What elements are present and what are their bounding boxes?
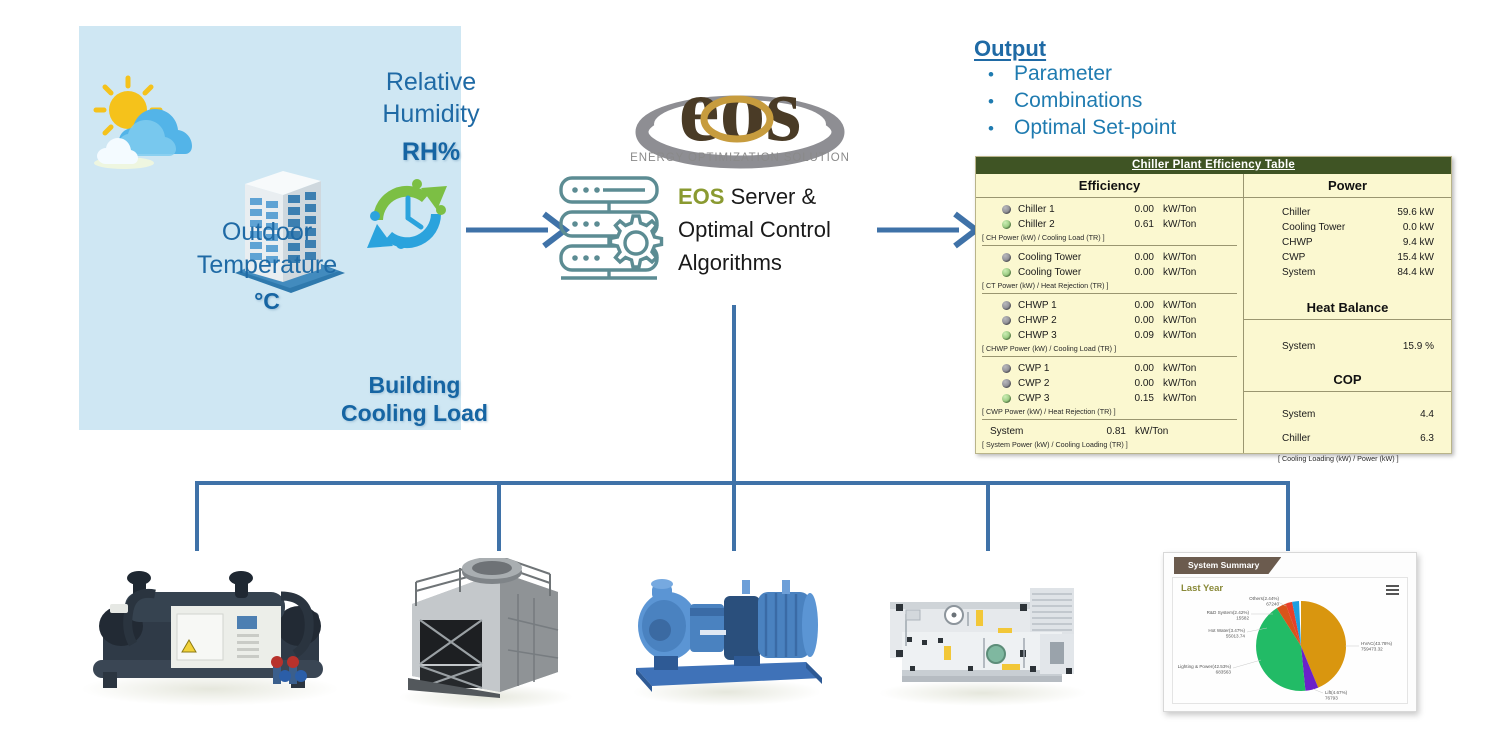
group-note: [ CH Power (kW) / Cooling Load (TR) ] bbox=[976, 233, 1243, 242]
connector-drop-cooling-tower bbox=[497, 481, 501, 551]
efficiency-column: Efficiency Chiller 1 0.00 kW/Ton Chiller… bbox=[976, 174, 1244, 453]
row-value: 0.81 bbox=[1088, 426, 1126, 437]
output-list-item-0: • Parameter bbox=[968, 62, 1268, 89]
row-value: 59.6 kW bbox=[1372, 207, 1434, 222]
dashboard-body: Last Year bbox=[1172, 577, 1408, 704]
row-label: System bbox=[990, 426, 1088, 437]
refresh-clock-icon bbox=[351, 158, 463, 276]
bullet-icon: • bbox=[968, 92, 1014, 112]
status-dot-off bbox=[1002, 301, 1011, 310]
row-label: Cooling Tower bbox=[1018, 252, 1116, 263]
row-label: CHWP 2 bbox=[1018, 315, 1116, 326]
output-list: • Parameter • Combinations • Optimal Set… bbox=[968, 62, 1268, 143]
relative-humidity-value: RH% bbox=[341, 138, 521, 167]
connector-drop-dashboard bbox=[1286, 481, 1290, 551]
status-dot-on bbox=[1002, 394, 1011, 403]
row-label: CWP 3 bbox=[1018, 393, 1116, 404]
table-row: System 15.9 % bbox=[1244, 334, 1451, 358]
status-dot-off bbox=[1002, 316, 1011, 325]
eos-logo-text: eos bbox=[679, 62, 802, 160]
row-value: 0.00 bbox=[1116, 204, 1154, 215]
status-dot-off bbox=[1002, 253, 1011, 262]
table-row: Cooling Tower 0.0 kW bbox=[1244, 222, 1451, 237]
connector-drop-ahu bbox=[986, 481, 990, 551]
row-value: 84.4 kW bbox=[1372, 267, 1434, 282]
power-column: Power Chiller 59.6 kW Cooling Tower 0.0 … bbox=[1244, 174, 1451, 453]
row-unit: kW/Ton bbox=[1163, 330, 1196, 341]
server-gear-icon bbox=[555, 172, 667, 282]
table-row-system: System 0.81 kW/Ton bbox=[976, 424, 1243, 439]
pie-label-lighting-power: Lighting & Power(42.53%)683563 bbox=[1178, 664, 1232, 675]
efficiency-group-chiller: Chiller 1 0.00 kW/Ton Chiller 2 0.61 kW/… bbox=[976, 198, 1243, 242]
pie-label-hvac: HVAC(43.78%)759473.32 bbox=[1361, 641, 1393, 652]
row-value: 15.4 kW bbox=[1372, 252, 1434, 267]
row-label: CWP 2 bbox=[1018, 378, 1116, 389]
cop-heading: COP bbox=[1244, 368, 1451, 391]
row-value: 15.9 % bbox=[1372, 341, 1434, 352]
row-label: System bbox=[1282, 409, 1372, 420]
row-value: 6.3 bbox=[1372, 433, 1434, 444]
table-row: CWP 1 0.00 kW/Ton bbox=[976, 361, 1243, 376]
table-row: Chiller 6.3 bbox=[1244, 426, 1451, 450]
status-dot-on bbox=[1002, 220, 1011, 229]
row-label: CWP bbox=[1282, 252, 1372, 267]
efficiency-group-chwp: CHWP 1 0.00 kW/Ton CHWP 2 0.00 kW/Ton CH… bbox=[976, 294, 1243, 353]
output-item-label: Parameter bbox=[1014, 62, 1112, 86]
row-unit: kW/Ton bbox=[1135, 426, 1168, 437]
cop-note: [ Cooling Loading (kW) / Power (kW) ] bbox=[1244, 454, 1451, 463]
row-label: CHWP bbox=[1282, 237, 1372, 252]
efficiency-system-group: System 0.81 kW/Ton [ System Power (kW) /… bbox=[976, 420, 1243, 449]
efficiency-group-cwp: CWP 1 0.00 kW/Ton CWP 2 0.00 kW/Ton CWP … bbox=[976, 357, 1243, 416]
eos-caption-line1: Server & bbox=[724, 184, 816, 209]
output-item-label: Combinations bbox=[1014, 89, 1142, 113]
table-row: System 84.4 kW bbox=[1244, 267, 1451, 282]
dashboard-panel[interactable]: System Summary Last Year bbox=[1163, 552, 1417, 712]
building-cooling-load-label: BuildingCooling Load bbox=[307, 371, 522, 427]
group-note: [ CWP Power (kW) / Heat Rejection (TR) ] bbox=[976, 407, 1243, 416]
table-row: CHWP 1 0.00 kW/Ton bbox=[976, 298, 1243, 313]
eos-logo-tagline: ENERGY OPTIMIZATION SOLUTION bbox=[600, 152, 880, 164]
status-dot-on bbox=[1002, 331, 1011, 340]
status-dot-off bbox=[1002, 379, 1011, 388]
status-dot-off bbox=[1002, 364, 1011, 373]
row-unit: kW/Ton bbox=[1163, 204, 1196, 215]
row-label: System bbox=[1282, 267, 1372, 282]
relative-humidity-label: RelativeHumidity bbox=[341, 66, 521, 130]
bullet-icon: • bbox=[968, 119, 1014, 139]
row-value: 0.00 bbox=[1116, 315, 1154, 326]
eos-brand-word: EOS bbox=[678, 184, 724, 209]
connector-drop-chiller bbox=[195, 481, 199, 551]
pie-label-others: Others(2.44%)67240 bbox=[1249, 596, 1279, 607]
eos-caption-line2: Optimal Control bbox=[678, 213, 908, 246]
row-value: 0.61 bbox=[1116, 219, 1154, 230]
row-value: 4.4 bbox=[1372, 409, 1434, 420]
row-value: 9.4 kW bbox=[1372, 237, 1434, 252]
row-value: 0.0 kW bbox=[1372, 222, 1434, 237]
row-label: CHWP 1 bbox=[1018, 300, 1116, 311]
row-value: 0.00 bbox=[1116, 363, 1154, 374]
efficiency-group-cooling-tower: Cooling Tower 0.00 kW/Ton Cooling Tower … bbox=[976, 246, 1243, 290]
pie-label-hot-water: Hot Water(3.47%)55013.74 bbox=[1208, 628, 1245, 639]
output-title: Output bbox=[974, 36, 1046, 62]
table-row: CWP 15.4 kW bbox=[1244, 252, 1451, 267]
row-value: 0.00 bbox=[1116, 300, 1154, 311]
efficiency-heading: Efficiency bbox=[976, 174, 1243, 197]
connector-trunk bbox=[732, 305, 736, 483]
dashboard-tab-label: System Summary bbox=[1174, 557, 1281, 574]
row-value: 0.00 bbox=[1116, 267, 1154, 278]
outdoor-temperature-value: °C bbox=[167, 288, 367, 315]
table-row: System 4.4 bbox=[1244, 402, 1451, 426]
row-label: Cooling Tower bbox=[1018, 267, 1116, 278]
chiller-photo bbox=[85, 560, 335, 695]
arrow-right-icon-2 bbox=[877, 208, 983, 252]
heat-balance-heading: Heat Balance bbox=[1244, 296, 1451, 319]
output-item-label: Optimal Set-point bbox=[1014, 116, 1176, 140]
power-heading: Power bbox=[1244, 174, 1451, 197]
row-label: System bbox=[1282, 341, 1372, 352]
table-row: CWP 3 0.15 kW/Ton bbox=[976, 391, 1243, 406]
row-label: Chiller 2 bbox=[1018, 219, 1116, 230]
table-row: Chiller 2 0.61 kW/Ton bbox=[976, 217, 1243, 232]
sun-cloud-icon bbox=[88, 68, 208, 178]
row-value: 0.09 bbox=[1116, 330, 1154, 341]
row-label: CHWP 3 bbox=[1018, 330, 1116, 341]
table-row: CHWP 2 0.00 kW/Ton bbox=[976, 313, 1243, 328]
pie-label-lift: Lift(4.67%)76793 bbox=[1325, 690, 1348, 701]
row-unit: kW/Ton bbox=[1163, 267, 1196, 278]
table-row: Chiller 1 0.00 kW/Ton bbox=[976, 202, 1243, 217]
row-unit: kW/Ton bbox=[1163, 300, 1196, 311]
pump-photo bbox=[630, 570, 830, 692]
row-value: 0.15 bbox=[1116, 393, 1154, 404]
pie-label-rd-system: R&D System(2.42%)15582 bbox=[1207, 610, 1250, 621]
row-value: 0.00 bbox=[1116, 252, 1154, 263]
outdoor-temperature-label: OutdoorTemperature bbox=[167, 216, 367, 282]
row-unit: kW/Ton bbox=[1163, 219, 1196, 230]
group-note: [ CT Power (kW) / Heat Rejection (TR) ] bbox=[976, 281, 1243, 290]
table-row: CHWP 9.4 kW bbox=[1244, 237, 1451, 252]
bullet-icon: • bbox=[968, 65, 1014, 85]
row-unit: kW/Ton bbox=[1163, 363, 1196, 374]
output-list-item-2: • Optimal Set-point bbox=[968, 116, 1268, 143]
output-list-item-1: • Combinations bbox=[968, 89, 1268, 116]
group-note: [ CHWP Power (kW) / Cooling Load (TR) ] bbox=[976, 344, 1243, 353]
table-title: Chiller Plant Efficiency Table bbox=[976, 157, 1451, 174]
table-row: CWP 2 0.00 kW/Ton bbox=[976, 376, 1243, 391]
cooling-tower-photo bbox=[400, 558, 570, 698]
row-unit: kW/Ton bbox=[1163, 378, 1196, 389]
row-label: Cooling Tower bbox=[1282, 222, 1372, 237]
input-conditions-panel: RelativeHumidity RH% OutdoorTemperature … bbox=[79, 26, 461, 430]
connector-bus bbox=[195, 481, 1290, 485]
system-note: [ System Power (kW) / Cooling Loading (T… bbox=[976, 440, 1243, 449]
ahu-photo bbox=[880, 568, 1084, 692]
status-dot-on bbox=[1002, 268, 1011, 277]
row-label: Chiller bbox=[1282, 433, 1372, 444]
table-row: CHWP 3 0.09 kW/Ton bbox=[976, 328, 1243, 343]
energy-breakdown-pie-chart: Others(2.44%)67240 R&D System(2.42%)1558… bbox=[1173, 590, 1409, 702]
eos-server-caption: EOS Server & Optimal Control Algorithms bbox=[678, 180, 908, 279]
row-value: 0.00 bbox=[1116, 378, 1154, 389]
row-unit: kW/Ton bbox=[1163, 252, 1196, 263]
status-dot-off bbox=[1002, 205, 1011, 214]
table-row: Chiller 59.6 kW bbox=[1244, 207, 1451, 222]
table-row: Cooling Tower 0.00 kW/Ton bbox=[976, 250, 1243, 265]
table-row: Cooling Tower 0.00 kW/Ton bbox=[976, 265, 1243, 280]
chiller-plant-efficiency-table: Chiller Plant Efficiency Table Efficienc… bbox=[975, 156, 1452, 454]
connector-drop-pump bbox=[732, 481, 736, 551]
eos-caption-line3: Algorithms bbox=[678, 246, 908, 279]
row-unit: kW/Ton bbox=[1163, 393, 1196, 404]
row-label: CWP 1 bbox=[1018, 363, 1116, 374]
row-label: Chiller bbox=[1282, 207, 1372, 222]
row-unit: kW/Ton bbox=[1163, 315, 1196, 326]
row-label: Chiller 1 bbox=[1018, 204, 1116, 215]
